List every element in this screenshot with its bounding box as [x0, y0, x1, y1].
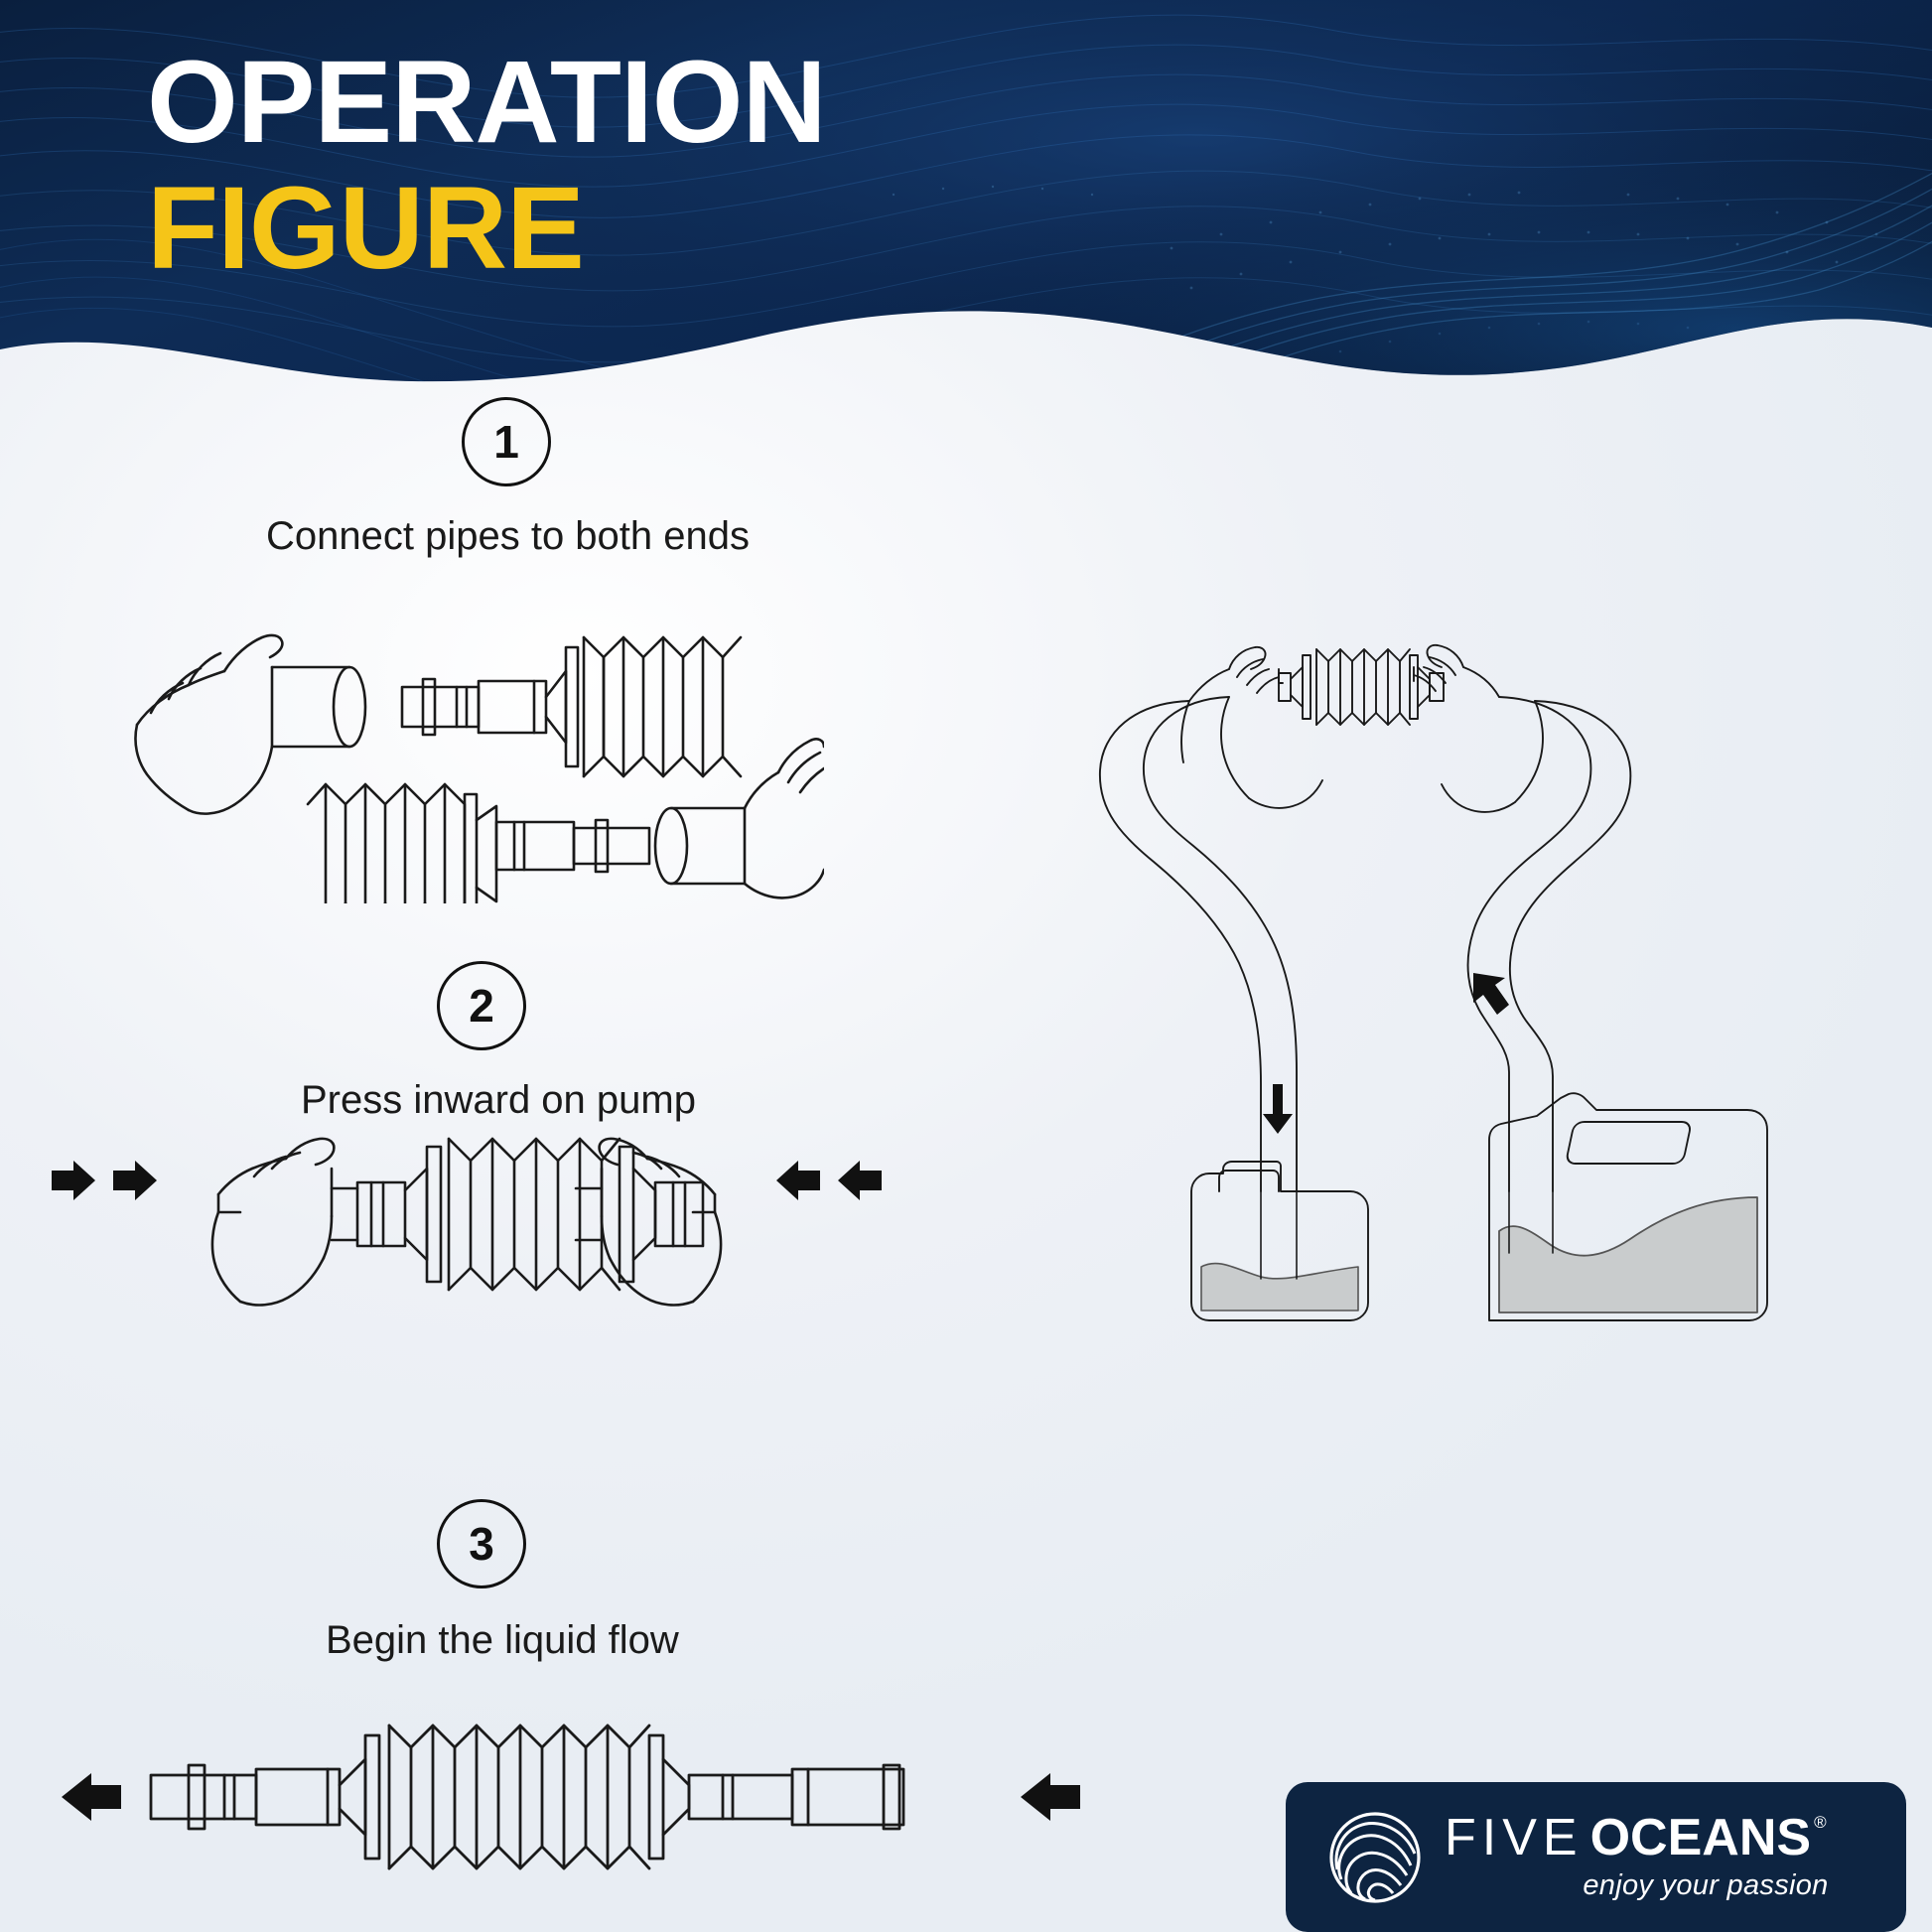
- step-1: 1 Connect pipes to both ends: [417, 397, 750, 559]
- hand-left-upper-icon: [135, 635, 282, 814]
- title-line-primary: OPERATION: [147, 44, 826, 161]
- step-1-label: Connect pipes to both ends: [266, 514, 750, 559]
- connector-left: [357, 1182, 405, 1246]
- pipe-right: [689, 1765, 903, 1829]
- page-title: OPERATION FIGURE: [147, 44, 826, 288]
- arrow-left-icon-2: [838, 1161, 882, 1200]
- pipe-left-upper: [272, 667, 365, 747]
- connector-upper: [402, 679, 546, 735]
- step-1-number-badge: 1: [462, 397, 551, 486]
- hose-right: [1468, 697, 1631, 1191]
- title-line-accent: FIGURE: [147, 169, 826, 288]
- hand-left-icon: [212, 1139, 357, 1306]
- step-2-diagram: [30, 1117, 903, 1315]
- step-3-diagram: [30, 1718, 1122, 1916]
- brand-logo-text: FIVE OCEANS ® enjoy your passion: [1445, 1812, 1829, 1902]
- arrow-left-icon-flow-left: [62, 1773, 121, 1821]
- step-3-number: 3: [469, 1517, 494, 1571]
- step-3-number-badge: 3: [437, 1499, 526, 1588]
- step-3-label: Begin the liquid flow: [326, 1618, 679, 1663]
- connector-lower: [496, 820, 649, 872]
- liquid-large-can: [1499, 1197, 1757, 1312]
- five-oceans-shell-icon: [1327, 1810, 1423, 1905]
- step-2: 2 Press inward on pump: [417, 961, 696, 1123]
- step-1-diagram: [129, 576, 824, 903]
- arrow-down-icon: [1263, 1084, 1293, 1134]
- arrow-left-icon-1: [776, 1161, 820, 1200]
- bellows-pump-expanded: [365, 1725, 689, 1868]
- step-3: 3 Begin the liquid flow: [417, 1499, 679, 1663]
- step-1-number: 1: [493, 415, 519, 469]
- connector-right: [655, 1182, 703, 1246]
- bellows-pump: [405, 1139, 655, 1290]
- hand-left-main-icon: [1181, 647, 1322, 808]
- pipe-left: [151, 1759, 365, 1835]
- liquid-small-can: [1201, 1264, 1358, 1311]
- brand-logo-card[interactable]: FIVE OCEANS ® enjoy your passion: [1286, 1782, 1906, 1932]
- brand-word-oceans: OCEANS: [1590, 1812, 1811, 1863]
- arrow-right-icon-1: [52, 1161, 95, 1200]
- pipe-right-lower: [655, 808, 745, 884]
- hose-tip-small-can: [1261, 1191, 1297, 1279]
- arrow-left-icon-flow-right: [1021, 1773, 1080, 1821]
- main-operation-diagram: [1072, 635, 1827, 1330]
- header-banner: OPERATION FIGURE: [0, 0, 1932, 457]
- hand-right-main-icon: [1414, 645, 1543, 812]
- arrow-right-icon-2: [113, 1161, 157, 1200]
- brand-word-five: FIVE: [1445, 1812, 1584, 1863]
- brand-tagline: enjoy your passion: [1445, 1869, 1829, 1902]
- step-2-number: 2: [469, 979, 494, 1033]
- bellows-pump-main: [1279, 649, 1444, 725]
- hand-right-icon: [576, 1139, 721, 1306]
- step-2-number-badge: 2: [437, 961, 526, 1050]
- hand-right-lower-icon: [745, 739, 824, 897]
- bellows-lower: [308, 784, 496, 903]
- bellows-upper: [546, 637, 741, 776]
- registered-trademark-icon: ®: [1814, 1814, 1829, 1831]
